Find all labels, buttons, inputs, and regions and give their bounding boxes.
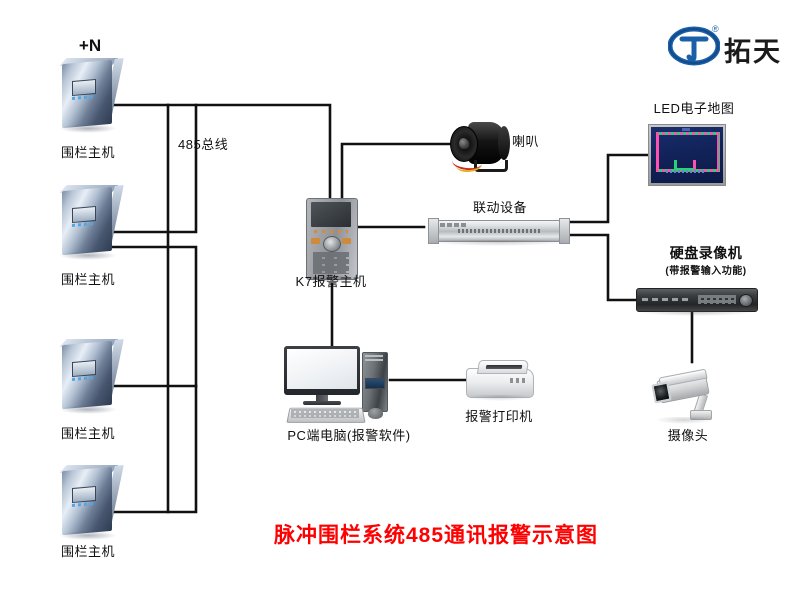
camera[interactable]: [650, 368, 724, 432]
led-map[interactable]: [648, 124, 726, 186]
linkage-device-label: 联动设备: [440, 197, 560, 216]
wire-linkage-to-ledmap: [568, 155, 648, 222]
brand-name: 拓天: [724, 30, 782, 69]
pc[interactable]: [284, 346, 404, 424]
camera-label: 摄像头: [638, 425, 738, 444]
plus-n-annotation: +N: [60, 36, 120, 56]
fence-host-3[interactable]: [56, 339, 120, 415]
speaker-label: 喇叭: [512, 131, 572, 150]
k7-alarm-host[interactable]: [306, 198, 356, 282]
brand-logo: ® 拓天: [668, 24, 798, 70]
dvr-sublabel: (带报警输入功能): [620, 262, 792, 277]
fence-host-2[interactable]: [56, 185, 120, 261]
wire-k7-to-speaker: [342, 144, 452, 198]
fence-host-4[interactable]: [56, 465, 120, 541]
diagram-title: 脉冲围栏系统485通讯报警示意图: [274, 519, 598, 549]
fence-host-1[interactable]: [56, 58, 120, 134]
diagram-canvas: ® 拓天 +N 485总线 围栏主机 围栏主机 围栏主机: [0, 0, 800, 600]
fence-host-3-label: 围栏主机: [36, 423, 140, 442]
fence-host-1-label: 围栏主机: [36, 142, 140, 161]
bus-label-485: 485总线: [178, 134, 258, 153]
led-map-label: LED电子地图: [624, 98, 764, 117]
fence-host-2-label: 围栏主机: [36, 269, 140, 288]
linkage-device[interactable]: [428, 216, 568, 246]
dvr-label: 硬盘录像机: [620, 243, 792, 263]
printer[interactable]: [466, 358, 532, 402]
dvr[interactable]: [636, 286, 756, 316]
printer-label: 报警打印机: [444, 406, 554, 425]
pc-label: PC端电脑(报警软件): [256, 425, 442, 444]
fence-host-4-label: 围栏主机: [36, 541, 140, 560]
registered-mark: ®: [712, 24, 719, 34]
k7-alarm-host-label: K7报警主机: [274, 271, 388, 290]
